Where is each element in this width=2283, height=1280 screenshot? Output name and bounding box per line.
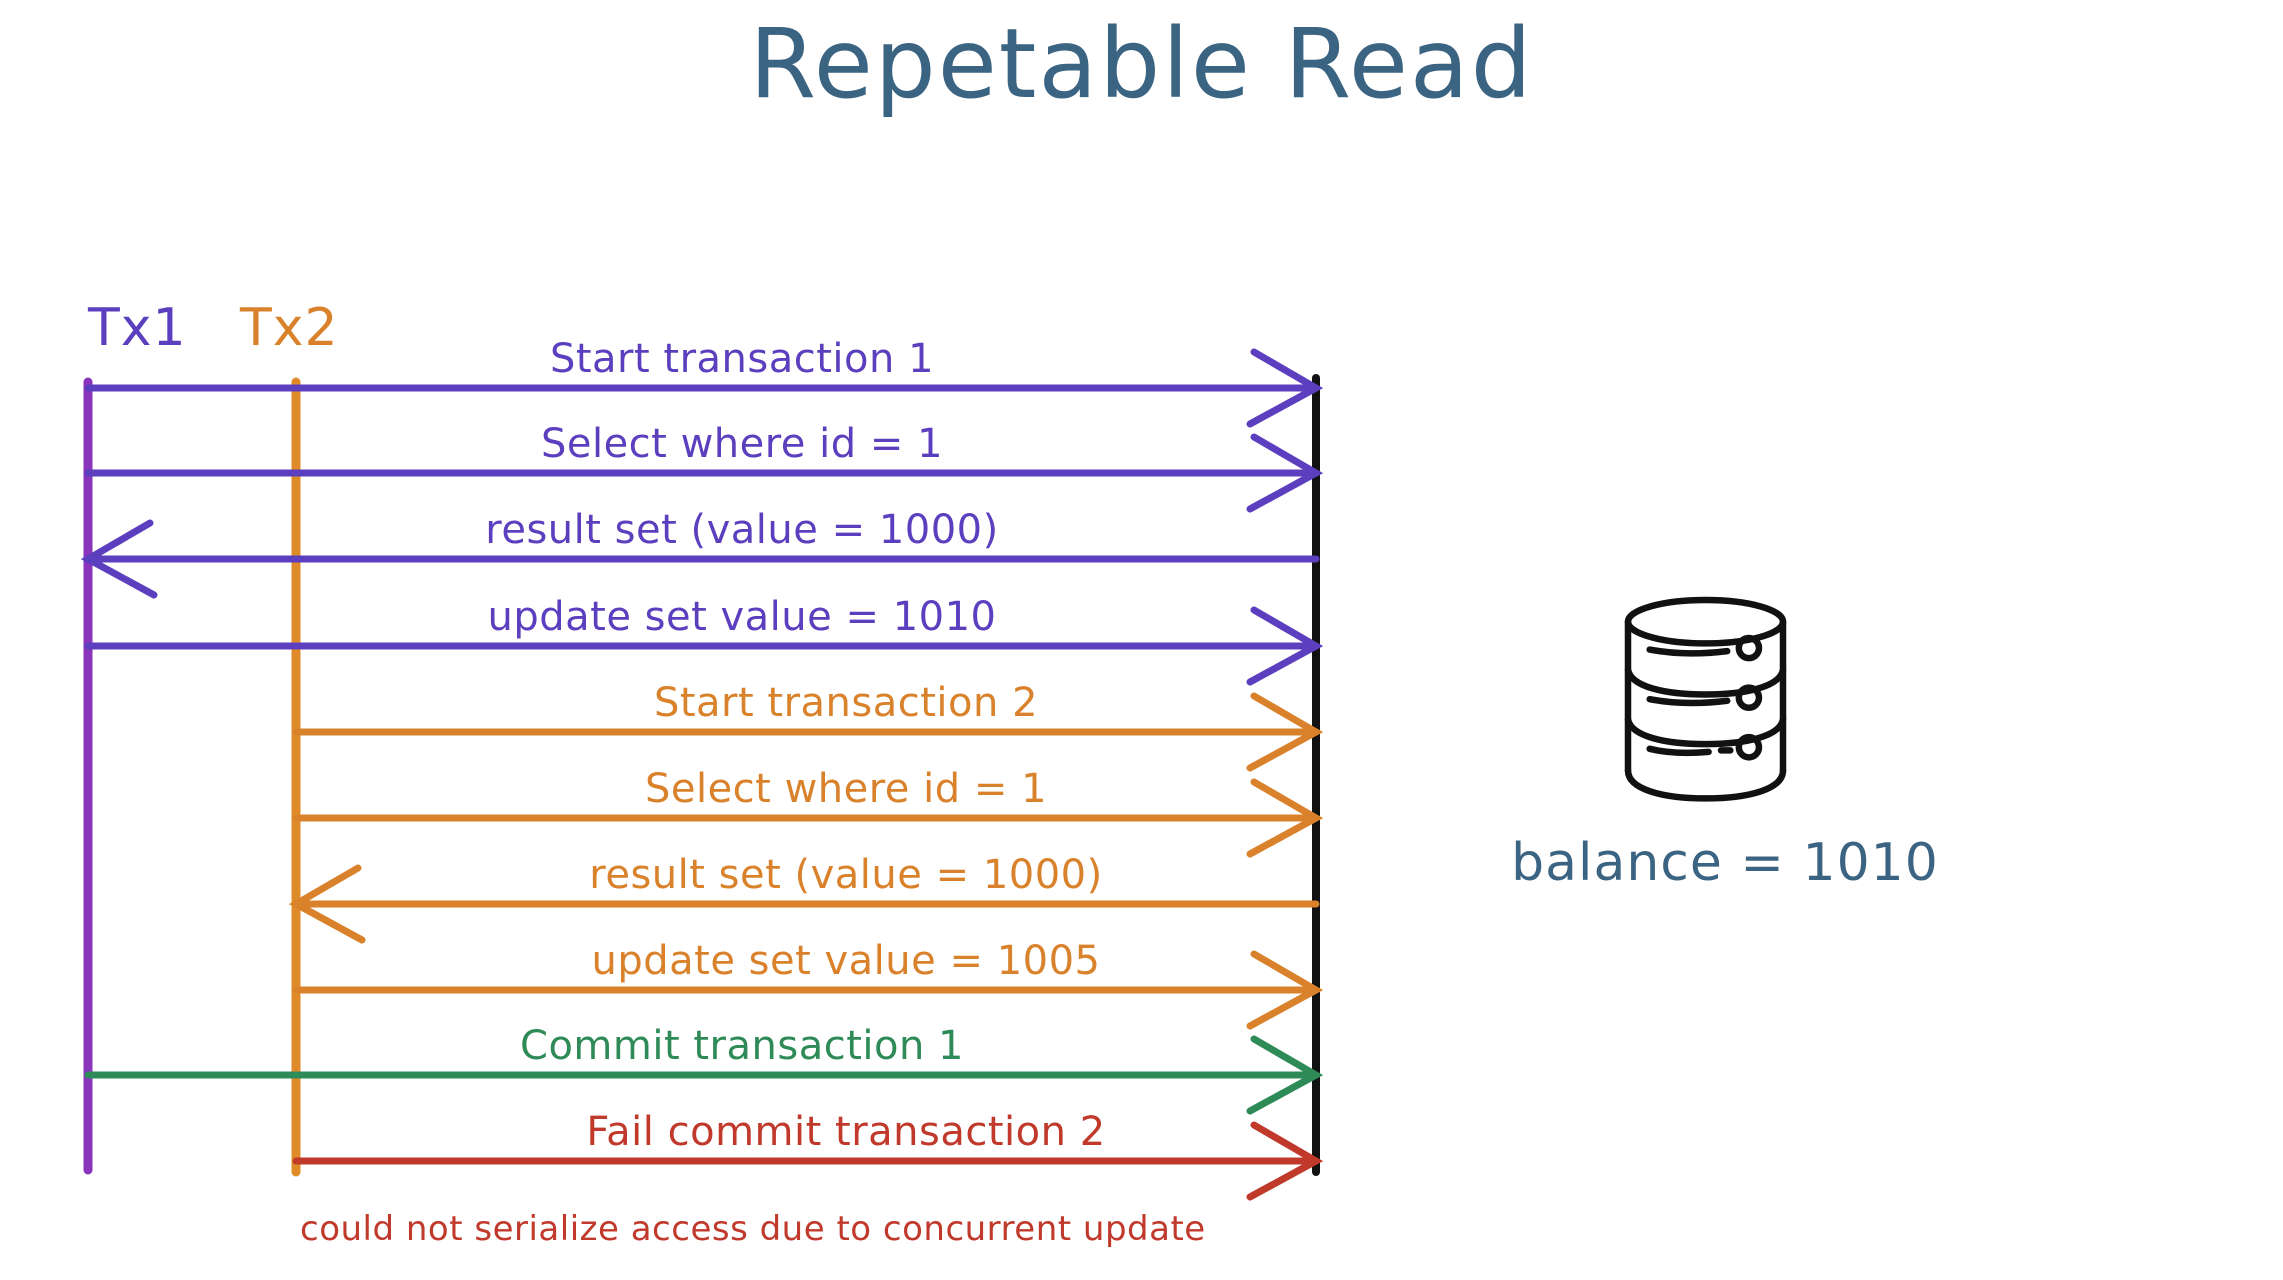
message-label: Start transaction 1 — [550, 336, 934, 382]
message-row: Select where id = 1 — [88, 421, 1316, 509]
message-row: Commit transaction 1 — [88, 1023, 1316, 1111]
sequence-diagram-canvas: Start transaction 1Select where id = 1re… — [0, 0, 2283, 1280]
message-row: Start transaction 2 — [296, 680, 1316, 768]
message-row: result set (value = 1000) — [88, 507, 1316, 595]
database-balance-label: balance = 1010 — [1511, 833, 1939, 893]
message-label: Fail commit transaction 2 — [586, 1109, 1105, 1155]
message-label: update set value = 1005 — [592, 938, 1101, 984]
actor-label-tx1: Tx1 — [87, 298, 187, 358]
messages-layer: Start transaction 1Select where id = 1re… — [88, 336, 1316, 1197]
message-label: Start transaction 2 — [654, 680, 1038, 726]
message-label: Commit transaction 1 — [520, 1023, 964, 1069]
message-row: update set value = 1005 — [296, 938, 1316, 1026]
message-row: Select where id = 1 — [296, 766, 1316, 854]
message-label: result set (value = 1000) — [589, 852, 1102, 898]
message-label: Select where id = 1 — [645, 766, 1047, 812]
database-icon — [1628, 600, 1783, 798]
message-row: update set value = 1010 — [88, 594, 1316, 682]
note-serialization-error: could not serialize access due to concur… — [300, 1209, 1206, 1249]
message-label: update set value = 1010 — [488, 594, 997, 640]
message-label: Select where id = 1 — [541, 421, 943, 467]
message-row: result set (value = 1000) — [296, 852, 1316, 940]
diagram-root: Repetable Read Start transaction 1Select… — [0, 0, 2283, 1280]
actor-label-tx2: Tx2 — [239, 298, 339, 358]
message-row: Fail commit transaction 2 — [296, 1109, 1316, 1197]
message-label: result set (value = 1000) — [485, 507, 998, 553]
